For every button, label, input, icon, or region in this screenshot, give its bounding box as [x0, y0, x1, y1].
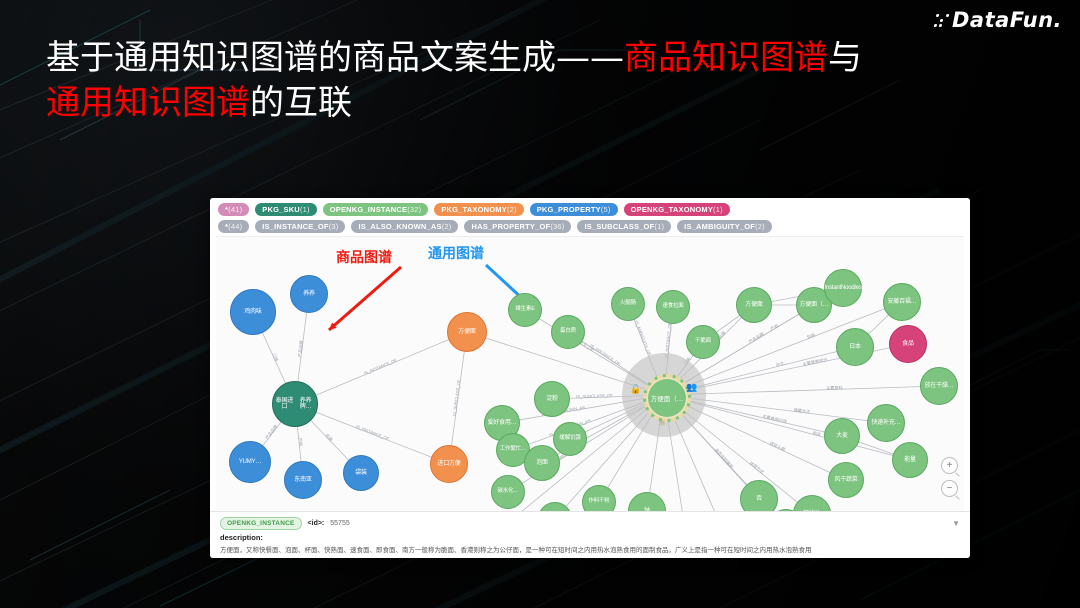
edge-label: IS_SUBCLASS_OF	[452, 379, 462, 417]
logo-dots-icon	[934, 14, 950, 27]
edge-label: 主要营养成分	[802, 356, 829, 368]
graph-node[interactable]: 风干蔬菜	[828, 462, 864, 498]
expand-graph-icon[interactable]: ⚛	[658, 419, 666, 428]
annotation-general-graph: 通用图谱	[428, 243, 484, 263]
edge-label: IS_INSTANCE_OF	[589, 343, 622, 367]
edge-label: 适用方式	[748, 460, 766, 476]
zoom-controls[interactable]: + −	[941, 457, 958, 497]
relationship-type-tag[interactable]: *(44)	[218, 220, 249, 233]
graph-node[interactable]: 日本	[836, 328, 874, 366]
relationship-type-tag[interactable]: IS_ALSO_KNOWN_AS(2)	[351, 220, 458, 233]
id-value: 55755	[330, 520, 349, 527]
edge-label: 包装	[806, 331, 817, 341]
edge-label: 产地	[769, 322, 780, 333]
edge-label: 主要食用功效	[762, 413, 789, 426]
node-type-tag[interactable]: PKG_TAXONOMY(2)	[434, 203, 523, 216]
annotation-product-graph: 商品图谱	[336, 247, 392, 267]
graph-node[interactable]: 干脆面	[686, 325, 720, 359]
description-text: 方便面，又称快餐面、泡面、杯面、快熟面、速食面、即食面、南方一般称为脆面、香港则…	[220, 544, 960, 554]
edge-label: 中文…	[775, 359, 789, 369]
edge-label: 储藏方法	[793, 406, 811, 415]
graph-node[interactable]: 放在干燥…	[920, 367, 958, 405]
title-line1-highlight: 商品知识图谱	[624, 38, 828, 78]
graph-node[interactable]: 鸡肉味	[230, 289, 276, 335]
title-line2-part2: 的互联	[250, 83, 352, 123]
group-icon[interactable]: 👥	[686, 383, 697, 392]
edge-label: 是否含防腐剂	[713, 447, 735, 470]
graph-node[interactable]: 大麦	[824, 418, 860, 454]
graph-node[interactable]: 缓解饥饿	[553, 422, 587, 456]
graph-node[interactable]: 养养	[290, 275, 328, 313]
edge-label: 主要原料	[826, 384, 844, 392]
title-line2-highlight: 通用知识图谱	[46, 83, 250, 123]
page-title: 基于通用知识图谱的商品文案生成——商品知识图谱与 通用知识图谱的互联	[46, 36, 1046, 126]
graph-node[interactable]: 东南亚	[284, 461, 322, 499]
legend-node-types: *(41)PKG_SKU(1)OPENKG_INSTANCE(32)PKG_TA…	[218, 203, 962, 216]
graph-node[interactable]: 安藤百福…	[883, 283, 921, 321]
edge-label: 产品品牌	[296, 340, 305, 358]
status-badge: OPENKG_INSTANCE	[220, 517, 302, 530]
graph-node[interactable]: YUMY…	[229, 441, 271, 483]
graph-node[interactable]: 维生素E	[508, 293, 542, 327]
title-line1-part1: 基于通用知识图谱的商品文案生成——	[46, 38, 624, 78]
chevron-down-icon[interactable]: ▼	[952, 519, 960, 528]
zoom-in-icon[interactable]: +	[941, 457, 958, 474]
edge-label: 包装	[324, 432, 335, 443]
graph-node[interactable]: 碳水化…	[491, 475, 525, 509]
graph-node[interactable]: 快速补充…	[867, 404, 905, 442]
relationship-type-tag[interactable]: IS_INSTANCE_OF(3)	[255, 220, 345, 233]
graph-node[interactable]: 方便面	[736, 287, 772, 323]
graph-node[interactable]: 泡面	[524, 445, 560, 481]
edge-label: 产地	[297, 437, 305, 447]
relationship-type-tag[interactable]: IS_SUBCLASS_OF(1)	[577, 220, 671, 233]
selected-node[interactable]: 方便面（…	[643, 374, 691, 422]
graph-canvas[interactable]: IS_INSTANCE_OFIS_INSTANCE_OFIS_SUBCLASS_…	[216, 236, 964, 537]
edge-label: 口味	[270, 352, 280, 363]
edge-label: IS_SUBCLASS_OF	[576, 393, 613, 399]
zoom-out-icon[interactable]: −	[941, 480, 958, 497]
graph-node[interactable]: 泰国进口养养牌…	[272, 381, 318, 427]
legend-bar: *(41)PKG_SKU(1)OPENKG_INSTANCE(32)PKG_TA…	[210, 198, 970, 236]
edge-label: IS_INSTANCE_OF	[355, 424, 390, 442]
knowledge-graph-window[interactable]: *(41)PKG_SKU(1)OPENKG_INSTANCE(32)PKG_TA…	[210, 198, 970, 558]
node-type-tag[interactable]: PKG_PROPERTY(5)	[530, 203, 618, 216]
relationship-type-tag[interactable]: IS_AMBIGUITY_OF(2)	[677, 220, 772, 233]
unlock-icon[interactable]: 🔓	[630, 385, 641, 394]
graph-node[interactable]: 方便面	[447, 312, 487, 352]
node-type-tag[interactable]: PKG_SKU(1)	[255, 203, 316, 216]
graph-node[interactable]: 袋装	[343, 455, 379, 491]
info-panel: OPENKG_INSTANCE <id>: 55755 ▼ descriptio…	[210, 511, 970, 558]
node-type-tag[interactable]: *(41)	[218, 203, 249, 216]
graph-node[interactable]: 速食拉面	[656, 290, 690, 324]
graph-node[interactable]: 淀粉	[534, 381, 570, 417]
edge-label: 产品品牌	[747, 331, 765, 346]
id-label: <id>:	[308, 520, 325, 527]
edge-label: IS_INSTANCE_OF	[363, 357, 398, 375]
description-label: description:	[220, 533, 960, 542]
edge-label: 产品品牌	[263, 423, 279, 441]
legend-relationship-types: *(44)IS_INSTANCE_OF(3)IS_ALSO_KNOWN_AS(2…	[218, 220, 962, 233]
graph-node[interactable]: 进口方便	[430, 445, 468, 483]
graph-node[interactable]: InstantNoodles	[824, 269, 862, 307]
edge-label: IS_AMBIGUITY_OF	[634, 320, 653, 357]
graph-node[interactable]: 食品	[889, 325, 927, 363]
node-type-tag[interactable]: OPENKG_TAXONOMY(1)	[624, 203, 730, 216]
datafun-logo: DataFun.	[935, 8, 1062, 32]
graph-node[interactable]: 能量	[892, 442, 928, 478]
title-line1-part2: 与	[828, 38, 862, 78]
graph-node[interactable]: 火腿肠	[611, 287, 645, 321]
annotation-arrow-product	[329, 267, 401, 330]
graph-node[interactable]: 蛋白质	[551, 315, 585, 349]
logo-text: DataFun.	[952, 8, 1062, 32]
node-type-tag[interactable]: OPENKG_INSTANCE(32)	[323, 203, 429, 216]
relationship-type-tag[interactable]: HAS_PROPERTY_OF(36)	[464, 220, 571, 233]
